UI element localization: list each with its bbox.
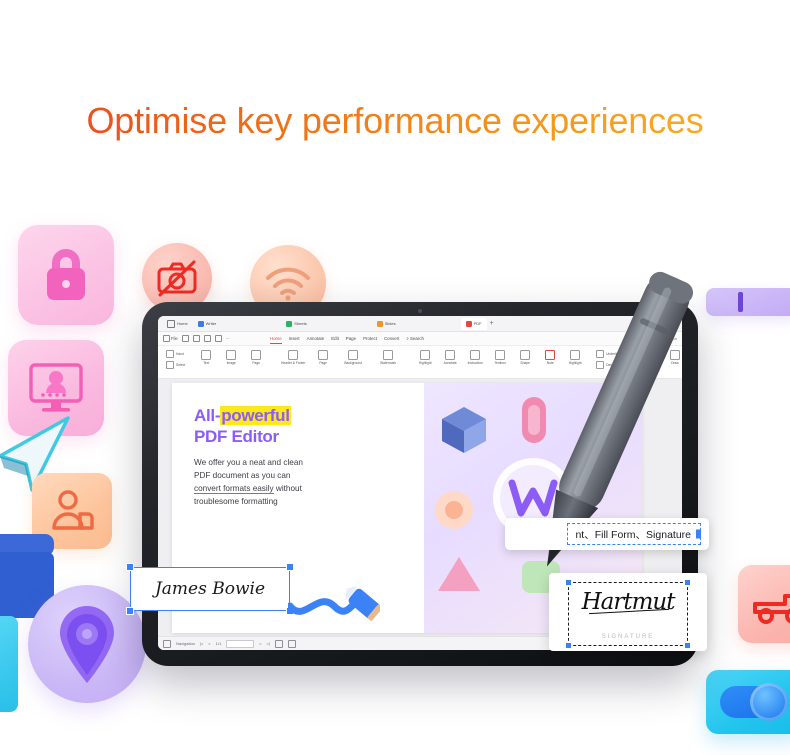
ribbon-item-note[interactable]: Note	[540, 348, 560, 365]
cyan-bar-decor	[0, 616, 18, 712]
ribbon-item-label: Page	[252, 361, 260, 365]
menu-tab-insert[interactable]: Insert	[289, 336, 300, 341]
last-page-button[interactable]: >|	[267, 641, 270, 646]
writer-icon	[198, 321, 204, 327]
app-tab-writer[interactable]: Writer	[193, 318, 222, 330]
cooperation-label: Cooperation	[655, 336, 677, 341]
minimize-icon[interactable]	[644, 320, 652, 328]
ribbon-item-label: Draw	[671, 361, 679, 365]
app-tab-slides[interactable]: Slides	[372, 318, 401, 330]
app-tab-label: Sheets	[294, 321, 306, 326]
undo-icon[interactable]	[204, 335, 211, 342]
save-icon[interactable]	[182, 335, 189, 342]
truck-icon	[738, 565, 790, 643]
deco-shape-cube	[434, 401, 494, 457]
search-label: Search	[410, 336, 424, 341]
sheets-icon	[286, 321, 292, 327]
file-menu-label: File	[171, 336, 178, 341]
maximize-icon[interactable]	[656, 320, 664, 328]
blue-pencil-icon	[288, 580, 380, 628]
ribbon-item-label: Background	[344, 361, 362, 365]
body-line-4: troublesome formatting	[194, 497, 278, 506]
heading-line2: PDF Editor	[194, 427, 279, 446]
image-icon	[226, 350, 236, 360]
menu-row: File ⋯ Home Insert Annotate Edit Page Pr…	[158, 332, 682, 346]
page-input[interactable]	[226, 640, 254, 648]
page-icon	[251, 350, 261, 360]
ribbon-group-mode: Hand Select	[163, 348, 188, 369]
tablet-camera	[418, 309, 422, 313]
more-icon[interactable]: ⋯	[226, 336, 230, 341]
app-tab-pdf[interactable]: PDF	[461, 318, 487, 330]
page-setup-icon	[318, 350, 328, 360]
ribbon-item-text[interactable]: Text	[196, 348, 216, 365]
ribbon-item-deleteline[interactable]: Deleteline	[596, 361, 621, 369]
fit-width-icon[interactable]	[288, 640, 296, 648]
ribbon-item-label: Instruction	[468, 361, 483, 365]
window-controls	[644, 320, 678, 328]
navigation-button[interactable]: Navigation	[176, 641, 195, 646]
header-footer-icon	[288, 350, 298, 360]
draw-icon	[670, 350, 680, 360]
highlight-pen-icon	[570, 350, 580, 360]
hand-icon	[166, 350, 174, 358]
ribbon-item-label: Shape	[520, 361, 530, 365]
ribbon-group-annotate: Highlight Annotate Instruction Textbox	[411, 348, 589, 365]
app-tab-label: PDF	[474, 321, 482, 326]
body-line-1: We offer you a neat and clean	[194, 458, 303, 467]
menu-tab-convert[interactable]: Convert	[384, 336, 399, 341]
ribbon-item-label: Annotate	[444, 361, 457, 365]
toggle-switch-icon	[706, 670, 790, 734]
ribbon-item-label: Deleteline	[606, 363, 621, 367]
fit-page-icon[interactable]	[275, 640, 283, 648]
signature-card[interactable]: Hartmut SIGNATURE	[549, 573, 707, 651]
redo-icon[interactable]	[215, 335, 222, 342]
ribbon-item-instruction[interactable]: Instruction	[465, 348, 485, 365]
ribbon-item-watermark[interactable]: Watermark	[373, 348, 403, 365]
ribbon-menu-tabs: Home Insert Annotate Edit Page Protect C…	[270, 336, 424, 341]
lock-status-icon	[163, 640, 171, 648]
ribbon-item-label: Replacements	[637, 363, 658, 367]
toolbar-handle[interactable]	[696, 530, 701, 539]
file-icon	[163, 335, 170, 342]
prev-page-button[interactable]: <	[208, 641, 210, 646]
location-pin-icon	[28, 585, 146, 703]
ribbon-item-draw[interactable]: Draw	[665, 348, 682, 365]
select-icon	[166, 361, 174, 369]
app-tab-label: Home	[177, 321, 188, 326]
ribbon-item-insert-symbol[interactable]: Insert Symbol	[627, 350, 658, 358]
app-tab-bar: Home Writer Sheets Slides PDF	[158, 316, 682, 332]
menu-tab-page[interactable]: Page	[346, 336, 356, 341]
insert-symbol-icon	[627, 350, 635, 358]
page-indicator: 1/1	[216, 641, 222, 646]
slides-icon	[377, 321, 383, 327]
ribbon-item-label: Note	[547, 361, 554, 365]
resize-handle-top-right[interactable]	[684, 579, 691, 586]
ribbon-item-label: Insert Symbol	[637, 352, 657, 356]
quick-access-toolbar: File ⋯	[163, 335, 230, 342]
cooperation-toggle[interactable]: Cooperation	[642, 335, 677, 342]
lock-icon	[18, 225, 114, 325]
ribbon-item-hand[interactable]: Hand	[166, 350, 185, 358]
first-page-button[interactable]: |<	[200, 641, 203, 646]
app-tab-label: Writer	[206, 321, 217, 326]
document-heading: All-powerful PDF Editor	[194, 405, 408, 447]
file-menu-button[interactable]: File	[163, 335, 178, 342]
instruction-icon	[470, 350, 480, 360]
deco-shape-triangle	[434, 551, 484, 597]
ribbon-group-page: Header & Footer Page Background Watermar…	[274, 348, 407, 365]
ribbon-item-textbox[interactable]: Textbox	[490, 348, 510, 365]
ribbon-item-label: Highlight	[419, 361, 432, 365]
menu-tab-annotate[interactable]: Annotate	[307, 336, 325, 341]
pdf-mode-label: nt、Fill Form、Signature	[575, 527, 691, 542]
ribbon-item-page[interactable]: Page	[246, 348, 266, 365]
home-icon	[167, 320, 175, 328]
deco-shape-ring	[430, 487, 478, 533]
deleteline-icon	[596, 361, 604, 369]
app-tab-label: Slides	[385, 321, 396, 326]
ribbon-item-replacements[interactable]: Replacements	[627, 361, 658, 369]
ribbon-item-label: Underline	[606, 352, 620, 356]
ribbon-group-symbols: Insert Symbol Replacements	[624, 348, 661, 369]
menu-tab-search[interactable]: ⌕ Search	[406, 336, 424, 341]
ribbon-item-underline[interactable]: Underline	[596, 350, 621, 358]
resize-handle-bottom-left[interactable]	[565, 642, 572, 649]
avatar[interactable]	[668, 320, 675, 327]
ribbon-item-shape[interactable]: Shape	[515, 348, 535, 365]
new-tab-button[interactable]: +	[487, 320, 497, 327]
menu-tab-home[interactable]: Home	[270, 336, 282, 341]
body-line-3-rest: without	[274, 484, 302, 493]
highlight-icon	[420, 350, 430, 360]
signature-selection-box[interactable]: James Bowie	[130, 567, 290, 611]
text-icon	[201, 350, 211, 360]
page-root: Optimise key performance experiences	[0, 0, 790, 755]
ribbon-item-label: Image	[227, 361, 236, 365]
body-line-2: PDF document as you can	[194, 471, 290, 480]
app-tab-sheets[interactable]: Sheets	[281, 318, 311, 330]
ribbon-item-image[interactable]: Image	[221, 348, 241, 365]
page-navigation: |< < 1/1 > >|	[200, 640, 296, 648]
ribbon-item-header-footer[interactable]: Header & Footer	[278, 348, 308, 365]
signature-text: James Bowie	[155, 579, 265, 599]
resize-handle-bottom-right[interactable]	[684, 642, 691, 649]
deco-shape-capsule	[516, 393, 552, 447]
annotate-icon	[445, 350, 455, 360]
ribbon-item-page-setup[interactable]: Page	[313, 348, 333, 365]
ribbon-group-insert: Text Image Page	[192, 348, 270, 365]
ribbon-item-background[interactable]: Background	[338, 348, 368, 365]
menu-tab-protect[interactable]: Protect	[363, 336, 377, 341]
textbox-icon	[495, 350, 505, 360]
shape-icon	[520, 350, 530, 360]
ribbon-item-label: Textbox	[494, 361, 505, 365]
resize-handle-bottom-left[interactable]	[126, 607, 134, 615]
body-line-3-underlined: convert formats easily	[194, 484, 274, 494]
toggle-icon	[642, 335, 653, 342]
background-icon	[348, 350, 358, 360]
signature-caption: SIGNATURE	[549, 634, 707, 640]
ribbon-item-annotate[interactable]: Annotate	[440, 348, 460, 365]
heading-highlight: powerful	[220, 406, 290, 425]
menu-tab-edit[interactable]: Edit	[331, 336, 339, 341]
pdf-mode-toolbar[interactable]: nt、Fill Form、Signature	[505, 518, 709, 550]
resize-handle-top-left[interactable]	[126, 563, 134, 571]
watermark-icon	[383, 350, 393, 360]
ribbon-item-highlight[interactable]: Highlight	[415, 348, 435, 365]
replacements-icon	[627, 361, 635, 369]
ribbon-item-highlight-pen[interactable]: Highlight	[565, 348, 585, 365]
ribbon-item-label: Text	[203, 361, 209, 365]
ribbon-item-label: Select	[176, 363, 185, 367]
page-title: Optimise key performance experiences	[0, 100, 790, 142]
next-page-button[interactable]: >	[259, 641, 261, 646]
resize-handle-top-right[interactable]	[286, 563, 294, 571]
ribbon-toolbar: Hand Select Text Image	[158, 346, 682, 379]
resize-handle-top-left[interactable]	[565, 579, 572, 586]
ribbon-item-label: Watermark	[380, 361, 396, 365]
print-icon[interactable]	[193, 335, 200, 342]
pdf-icon	[466, 321, 472, 327]
note-icon	[545, 350, 555, 360]
heading-plain: All-	[194, 406, 220, 425]
underline-icon	[596, 350, 604, 358]
text-cursor-bar-icon	[706, 288, 790, 316]
app-tab-home[interactable]: Home	[162, 318, 193, 330]
ribbon-group-draw: Draw Erase	[661, 348, 682, 365]
document-body: We offer you a neat and clean PDF docume…	[194, 456, 408, 508]
ribbon-item-label: Hand	[176, 352, 184, 356]
ribbon-item-label: Highlight	[569, 361, 582, 365]
ribbon-item-label: Header & Footer	[281, 361, 305, 365]
ribbon-item-label: Page	[319, 361, 327, 365]
ribbon-item-select[interactable]: Select	[166, 361, 185, 369]
ribbon-group-lines: Underline Deleteline	[593, 348, 624, 369]
